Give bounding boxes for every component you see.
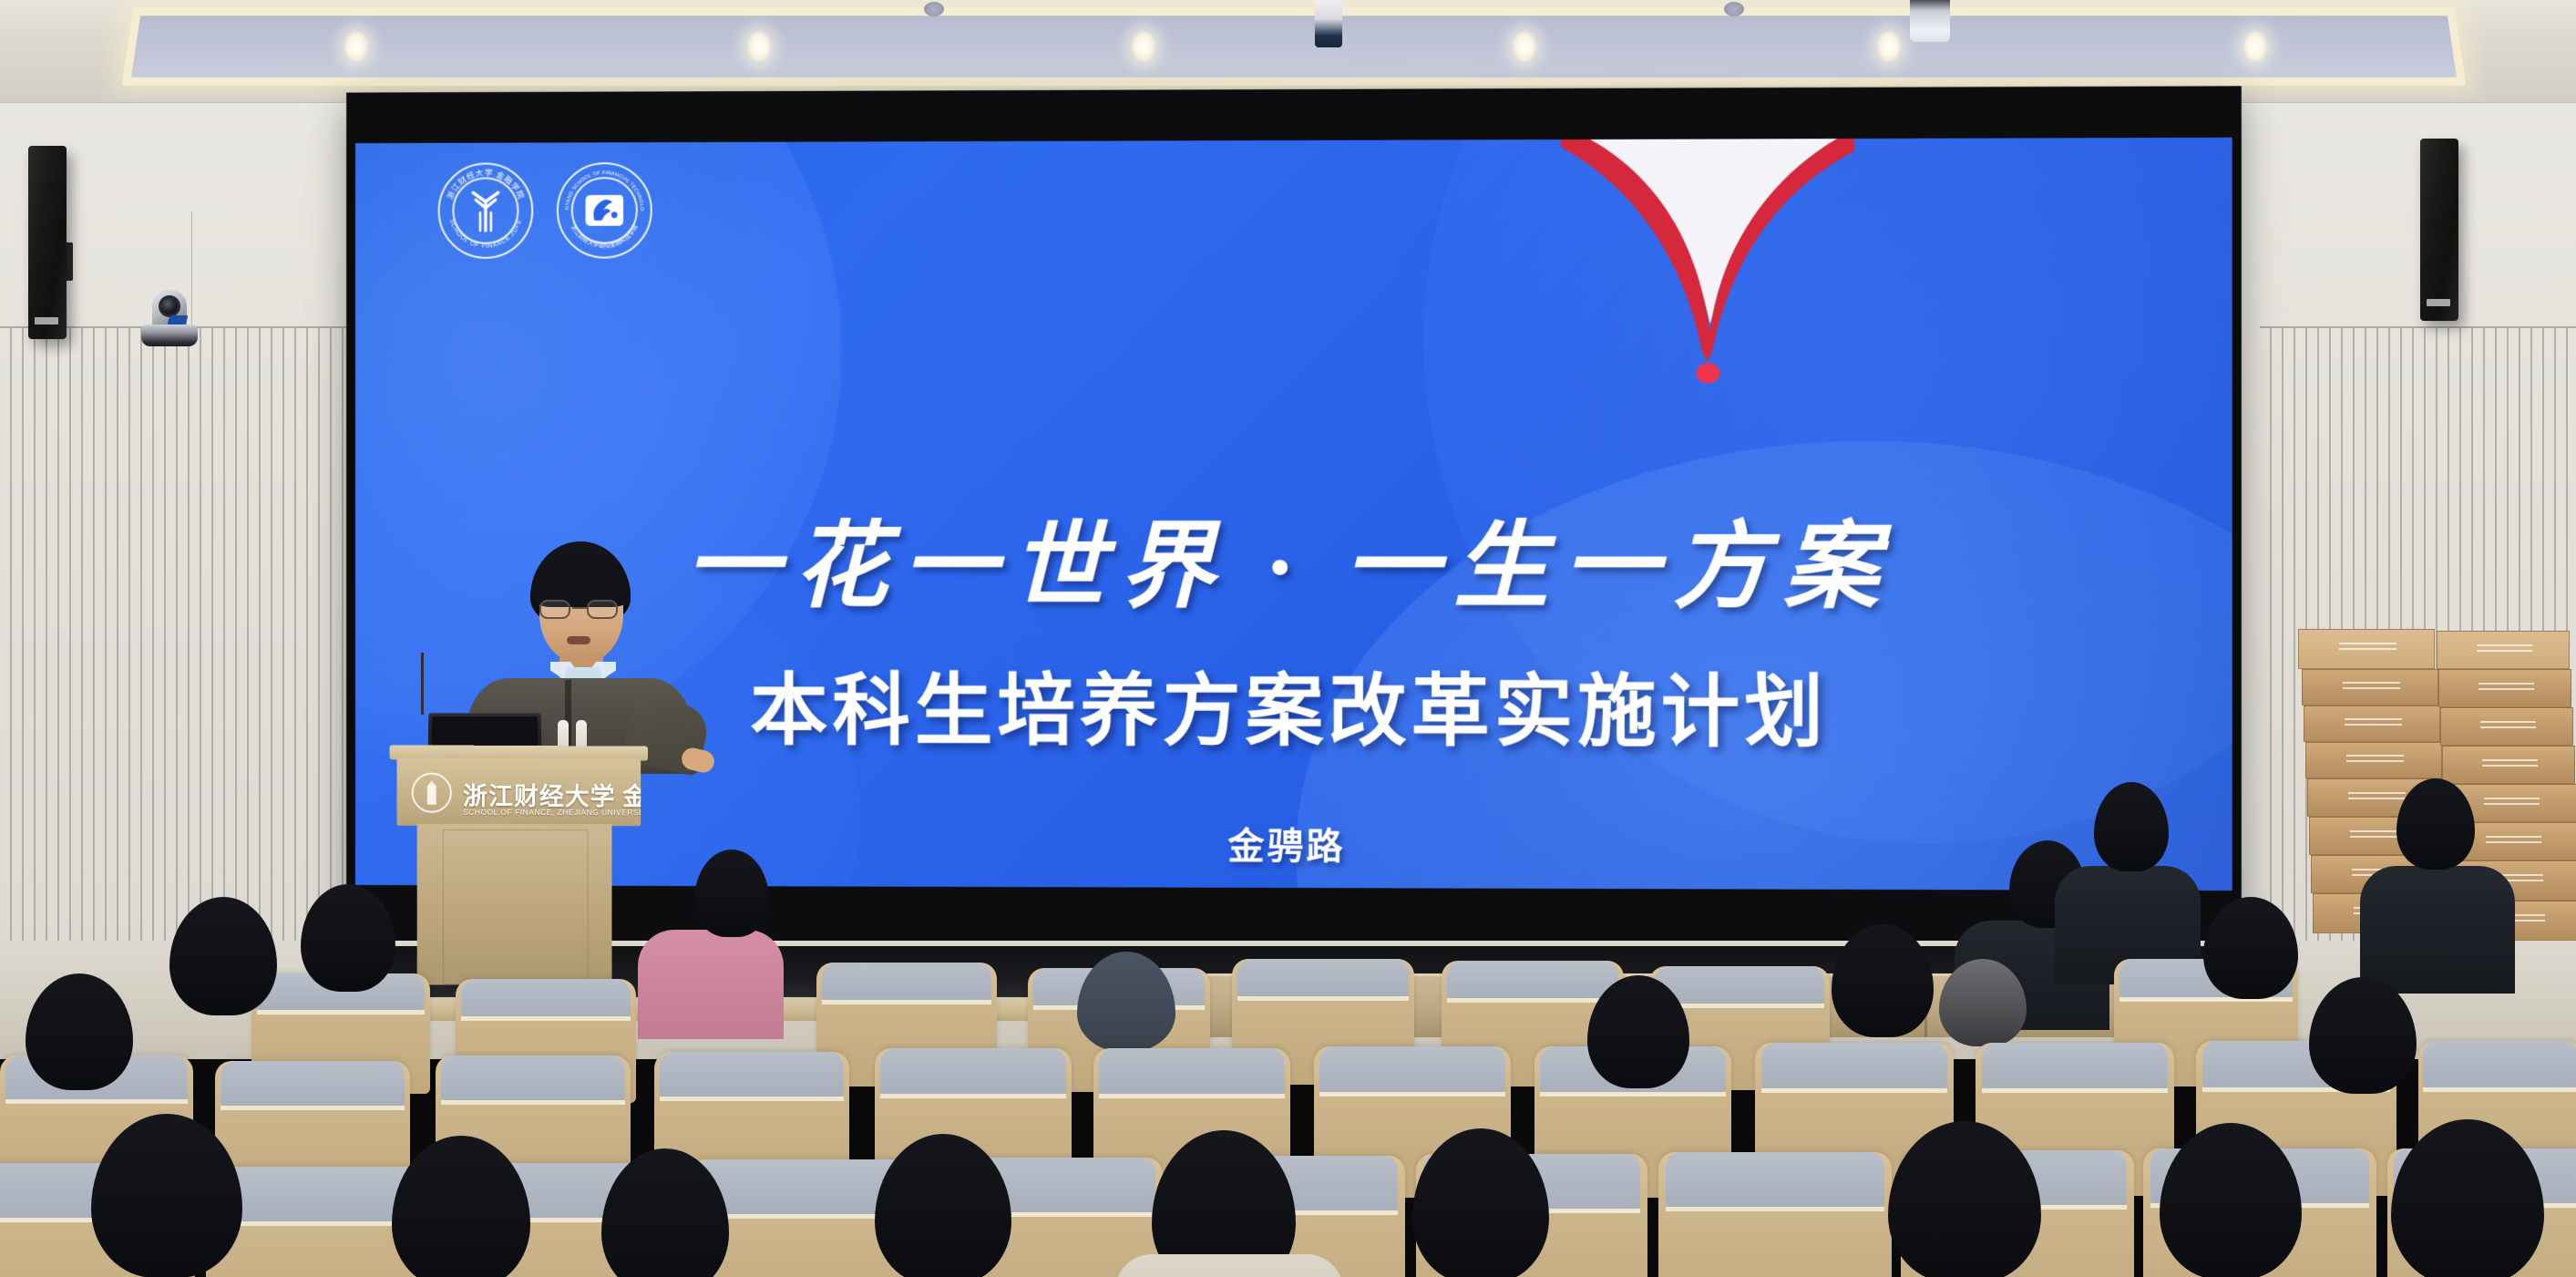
audience-person-torso — [1115, 1254, 1343, 1277]
speaker-brand-badge — [35, 317, 58, 324]
cardboard-box — [2305, 742, 2442, 778]
svg-text:YINGYANG SCHOOL OF FINANCIAL T: YINGYANG SCHOOL OF FINANCIAL TECHNOLOGY — [557, 162, 644, 211]
audience-person-head — [26, 973, 133, 1090]
yingyang-school-of-financial-technology-logo-icon: YINGYANG SCHOOL OF FINANCIAL TECHNOLOGY … — [557, 162, 652, 259]
ptz-camera — [141, 290, 198, 355]
slide-logo-group: 浙江财经大学 金融学院 SCHOOL OF FINANCE.ZUFE — [438, 162, 652, 259]
presenter-mouth — [567, 636, 590, 644]
cardboard-box — [2298, 629, 2435, 669]
audience-person-torso — [2360, 866, 2515, 994]
audience-area — [0, 984, 2576, 1277]
ceiling-sensor-icon — [1724, 2, 1744, 16]
ceiling-downlight — [2243, 31, 2267, 62]
auditorium-seat — [1658, 1152, 1892, 1277]
camera-lens-icon — [159, 295, 180, 317]
cardboard-box — [2442, 746, 2575, 784]
screen-letterbox-top — [346, 86, 2242, 143]
audience-person-head — [2309, 977, 2417, 1094]
cardboard-box — [2304, 705, 2440, 742]
podium-name-en: SCHOOL OF FINANCE, ZHEJIANG UNIVERSITY O… — [463, 808, 641, 818]
audience-person-torso — [638, 930, 784, 1039]
ceiling-downlight — [1132, 31, 1155, 62]
speaker-brand-badge — [2427, 299, 2450, 306]
ceiling-cove-light — [122, 7, 2467, 86]
zufe-seal-icon — [412, 773, 452, 813]
ceiling-downlight — [747, 31, 771, 62]
ceiling-downlight — [1513, 31, 1536, 62]
camera-base — [141, 324, 198, 346]
v-swoosh-graphic — [1561, 138, 1854, 408]
cardboard-box — [2438, 669, 2571, 707]
cardboard-box — [2302, 669, 2438, 705]
svg-text:浙江财经大学盈阳金融科技学院: 浙江财经大学盈阳金融科技学院 — [570, 222, 640, 249]
zufe-school-of-finance-logo-icon: 浙江财经大学 金融学院 SCHOOL OF FINANCE.ZUFE — [438, 162, 534, 259]
line-array-speaker-right — [2420, 139, 2458, 321]
podium-nameplate: 浙江财经大学 金融学院 SCHOOL OF FINANCE, ZHEJIANG … — [397, 757, 641, 826]
cardboard-box — [2437, 631, 2570, 669]
ceiling-sensor-icon — [924, 2, 944, 16]
svg-text:浙江财经大学 金融学院: 浙江财经大学 金融学院 — [445, 167, 527, 201]
svg-text:SCHOOL OF FINANCE.ZUFE: SCHOOL OF FINANCE.ZUFE — [448, 219, 523, 251]
ceiling-projector — [1315, 0, 1342, 47]
acoustic-slat-panel-left — [0, 328, 346, 966]
lectern-podium: 浙江财经大学 金融学院 SCHOOL OF FINANCE, ZHEJIANG … — [397, 745, 641, 983]
microphone-stem — [421, 653, 424, 715]
ceiling-downlight — [344, 31, 368, 62]
camera-accent-stripe — [167, 315, 188, 324]
ceiling-downlight — [1877, 31, 1901, 62]
logo-arc-text: YINGYANG SCHOOL OF FINANCIAL TECHNOLOGY … — [557, 162, 652, 259]
ceiling-spotlight — [1910, 0, 1950, 42]
logo-arc-text: 浙江财经大学 金融学院 SCHOOL OF FINANCE.ZUFE — [438, 162, 534, 259]
lecture-hall-scene: 浙江财经大学 金融学院 SCHOOL OF FINANCE.ZUFE — [0, 0, 2576, 1277]
cardboard-box — [2440, 707, 2573, 746]
line-array-speaker-left — [28, 146, 67, 339]
podium-body — [417, 824, 612, 985]
glasses-icon — [539, 600, 625, 620]
